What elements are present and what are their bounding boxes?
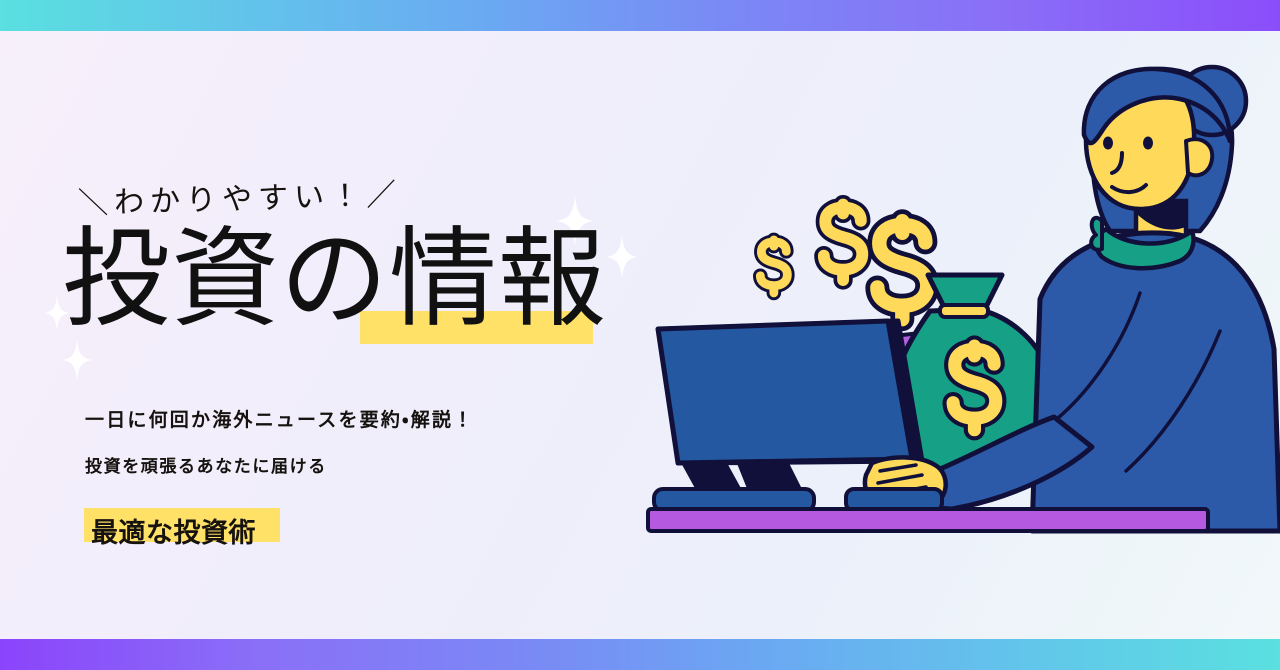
headline-wrapper: 投資の情報 [62, 226, 607, 346]
eye-right [1143, 137, 1153, 150]
scarf-knot [1091, 218, 1102, 250]
subline-highlighted: 最適な投資術 [91, 511, 256, 550]
money-bag-tie [940, 305, 988, 317]
subline-secondary: 投資を頑張るあなたに届ける [85, 452, 327, 477]
page-title: 投資の情報 [62, 226, 607, 334]
banner-canvas: ＼わかりやすい！／ 投資の情報 一日に何回か海外ニュースを要約・解説！ 投資を頑… [0, 0, 1280, 670]
text-column: ＼わかりやすい！／ 投資の情報 一日に何回か海外ニュースを要約・解説！ 投資を頑… [0, 31, 640, 639]
money-bag-dollar-symbol [953, 346, 996, 430]
dollar-sign-medium [824, 205, 862, 280]
dollar-sign-small [760, 240, 787, 293]
sweater [1032, 233, 1280, 531]
bottom-gradient-bar [0, 639, 1280, 670]
eye-left [1103, 137, 1113, 150]
subline-primary: 一日に何回か海外ニュースを要約・解説！ [85, 405, 474, 432]
desk [648, 509, 1208, 531]
ear [1186, 139, 1212, 175]
dollar-sign-large [877, 221, 927, 319]
top-gradient-bar [0, 0, 1280, 31]
investor-desk-illustration [640, 31, 1280, 639]
eyebrow-handwritten-text: ＼わかりやすい！／ [77, 169, 402, 222]
monitor-screen [658, 321, 912, 463]
